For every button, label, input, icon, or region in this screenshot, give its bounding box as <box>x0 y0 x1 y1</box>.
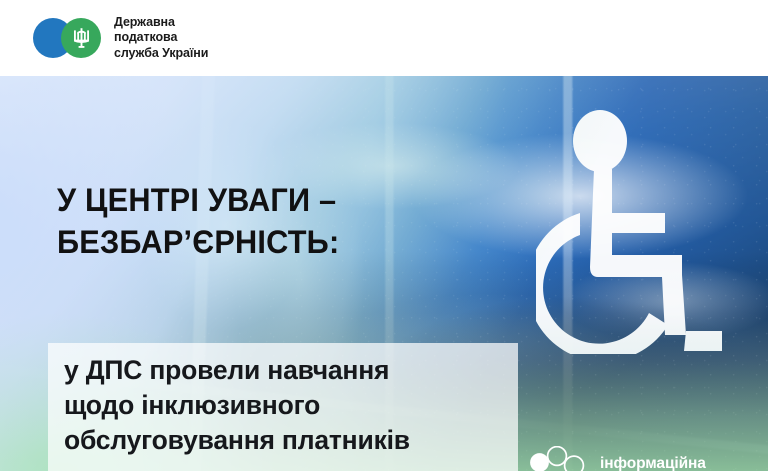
logo-line-1: Державна <box>114 15 208 31</box>
subtitle-line-2: щодо інклюзивного <box>64 388 502 423</box>
subtitle-line-1: у ДПС провели навчання <box>64 353 502 388</box>
subtitle-panel: у ДПС провели навчання щодо інклюзивного… <box>48 343 518 471</box>
logo-line-2: податкова <box>114 30 208 46</box>
page-title: У ЦЕНТРІ УВАГИ – БЕЗБАР’ЄРНІСТЬ: <box>57 179 339 263</box>
headline-line-1: У ЦЕНТРІ УВАГИ – <box>57 179 339 221</box>
site-header: Державна податкова служба України <box>0 0 768 76</box>
headline-line-2: БЕЗБАР’ЄРНІСТЬ: <box>57 221 339 263</box>
dps-logo[interactable]: Державна податкова служба України <box>33 15 208 62</box>
hero-stage: У ЦЕНТРІ УВАГИ – БЕЗБАР’ЄРНІСТЬ: у ДПС п… <box>0 76 768 471</box>
barrier-free-badge-text: інформаційна безбар’єрність <box>600 454 714 471</box>
banner: Державна податкова служба України <box>0 0 768 471</box>
badge-line-1: інформаційна <box>600 454 714 471</box>
logo-line-3: служба України <box>114 46 208 62</box>
logo-marks <box>33 18 101 58</box>
barrier-free-badge[interactable]: інформаційна безбар’єрність <box>528 446 714 471</box>
subtitle-line-3: обслуговування платників <box>64 423 502 458</box>
ukraine-trident-icon <box>73 27 90 49</box>
page-subtitle: у ДПС провели навчання щодо інклюзивного… <box>64 353 502 458</box>
logo-wordmark: Державна податкова служба України <box>114 15 208 62</box>
logo-circle-green <box>61 18 101 58</box>
barrier-free-dots-icon <box>528 446 586 471</box>
